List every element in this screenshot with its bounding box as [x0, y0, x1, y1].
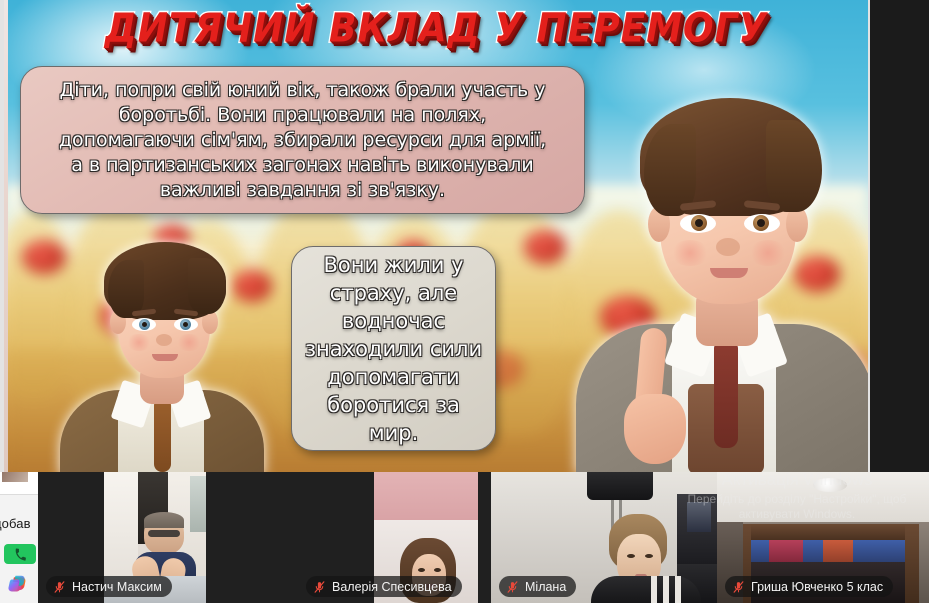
participant-filmstrip[interactable]: Настич Максим Валерія С [38, 472, 929, 603]
participant-name: Настич Максим [72, 580, 162, 594]
participant-name: Гриша Ювченко 5 клас [751, 580, 883, 594]
background-app-titlebar [0, 472, 40, 495]
background-app-window[interactable]: добав [0, 472, 41, 603]
illustration-boy-right [576, 62, 868, 472]
sub-line-3: знаходили сили [304, 335, 483, 363]
main-line-2: допомагаючи сім'ям, збирали ресурси для … [59, 128, 546, 153]
callout-main: Діти, попри свій юний вік, також брали у… [20, 66, 585, 214]
participant-name-chip: Гриша Ювченко 5 клас [725, 576, 893, 597]
sub-line-4: допомагати [304, 363, 483, 391]
copilot-icon[interactable] [6, 572, 30, 596]
mic-muted-icon [53, 580, 66, 594]
sub-line-1: страху, але [304, 279, 483, 307]
participant-name-chip: Настич Максим [46, 576, 172, 597]
participant-name: Мілана [525, 580, 566, 594]
main-line-1: боротьбі. Вони працювали на полях, [59, 103, 546, 128]
mic-muted-icon [313, 580, 326, 594]
participant-tile[interactable]: Настич Максим [38, 472, 250, 603]
sub-line-0: Вони жили у [304, 251, 483, 279]
callout-main-text: Діти, попри свій юний вік, також брали у… [59, 78, 546, 203]
presentation-stage[interactable]: ДИТЯЧИЙ ВКЛАД У ПЕРЕМОГУ Діти, попри сві… [0, 0, 870, 472]
main-line-3: а в партизанських загонах навіть виконув… [59, 153, 546, 178]
participant-tile[interactable]: Гриша Ювченко 5 клас [717, 472, 929, 603]
participant-name-chip: Валерія Спесивцева [306, 576, 462, 597]
slide-title: ДИТЯЧИЙ ВКЛАД У ПЕРЕМОГУ [4, 6, 868, 52]
participant-tile[interactable]: Валерія Спесивцева [250, 472, 491, 603]
slide-canvas: ДИТЯЧИЙ ВКЛАД У ПЕРЕМОГУ Діти, попри сві… [4, 0, 868, 472]
illustration-boy-left [56, 214, 266, 472]
main-line-0: Діти, попри свій юний вік, також брали у… [59, 78, 546, 103]
phone-icon[interactable] [4, 544, 36, 564]
main-line-4: важливі завдання зі зв'язку. [59, 178, 546, 203]
background-app-text: добав [0, 516, 41, 531]
participant-tile[interactable]: Мілана [491, 472, 717, 603]
slide-left-edge [4, 0, 8, 472]
participant-name-chip: Мілана [499, 576, 576, 597]
sub-line-2: водночас [304, 307, 483, 335]
mic-muted-icon [506, 580, 519, 594]
callout-secondary-text: Вони жили у страху, але водночас знаходи… [304, 251, 483, 447]
callout-secondary: Вони жили у страху, але водночас знаходи… [291, 246, 496, 451]
mic-muted-icon [732, 580, 745, 594]
sub-line-5: боротися за мир. [304, 391, 483, 447]
participant-name: Валерія Спесивцева [332, 580, 452, 594]
screen-root: добав [0, 0, 929, 603]
background-app-thumbnail [2, 472, 28, 482]
